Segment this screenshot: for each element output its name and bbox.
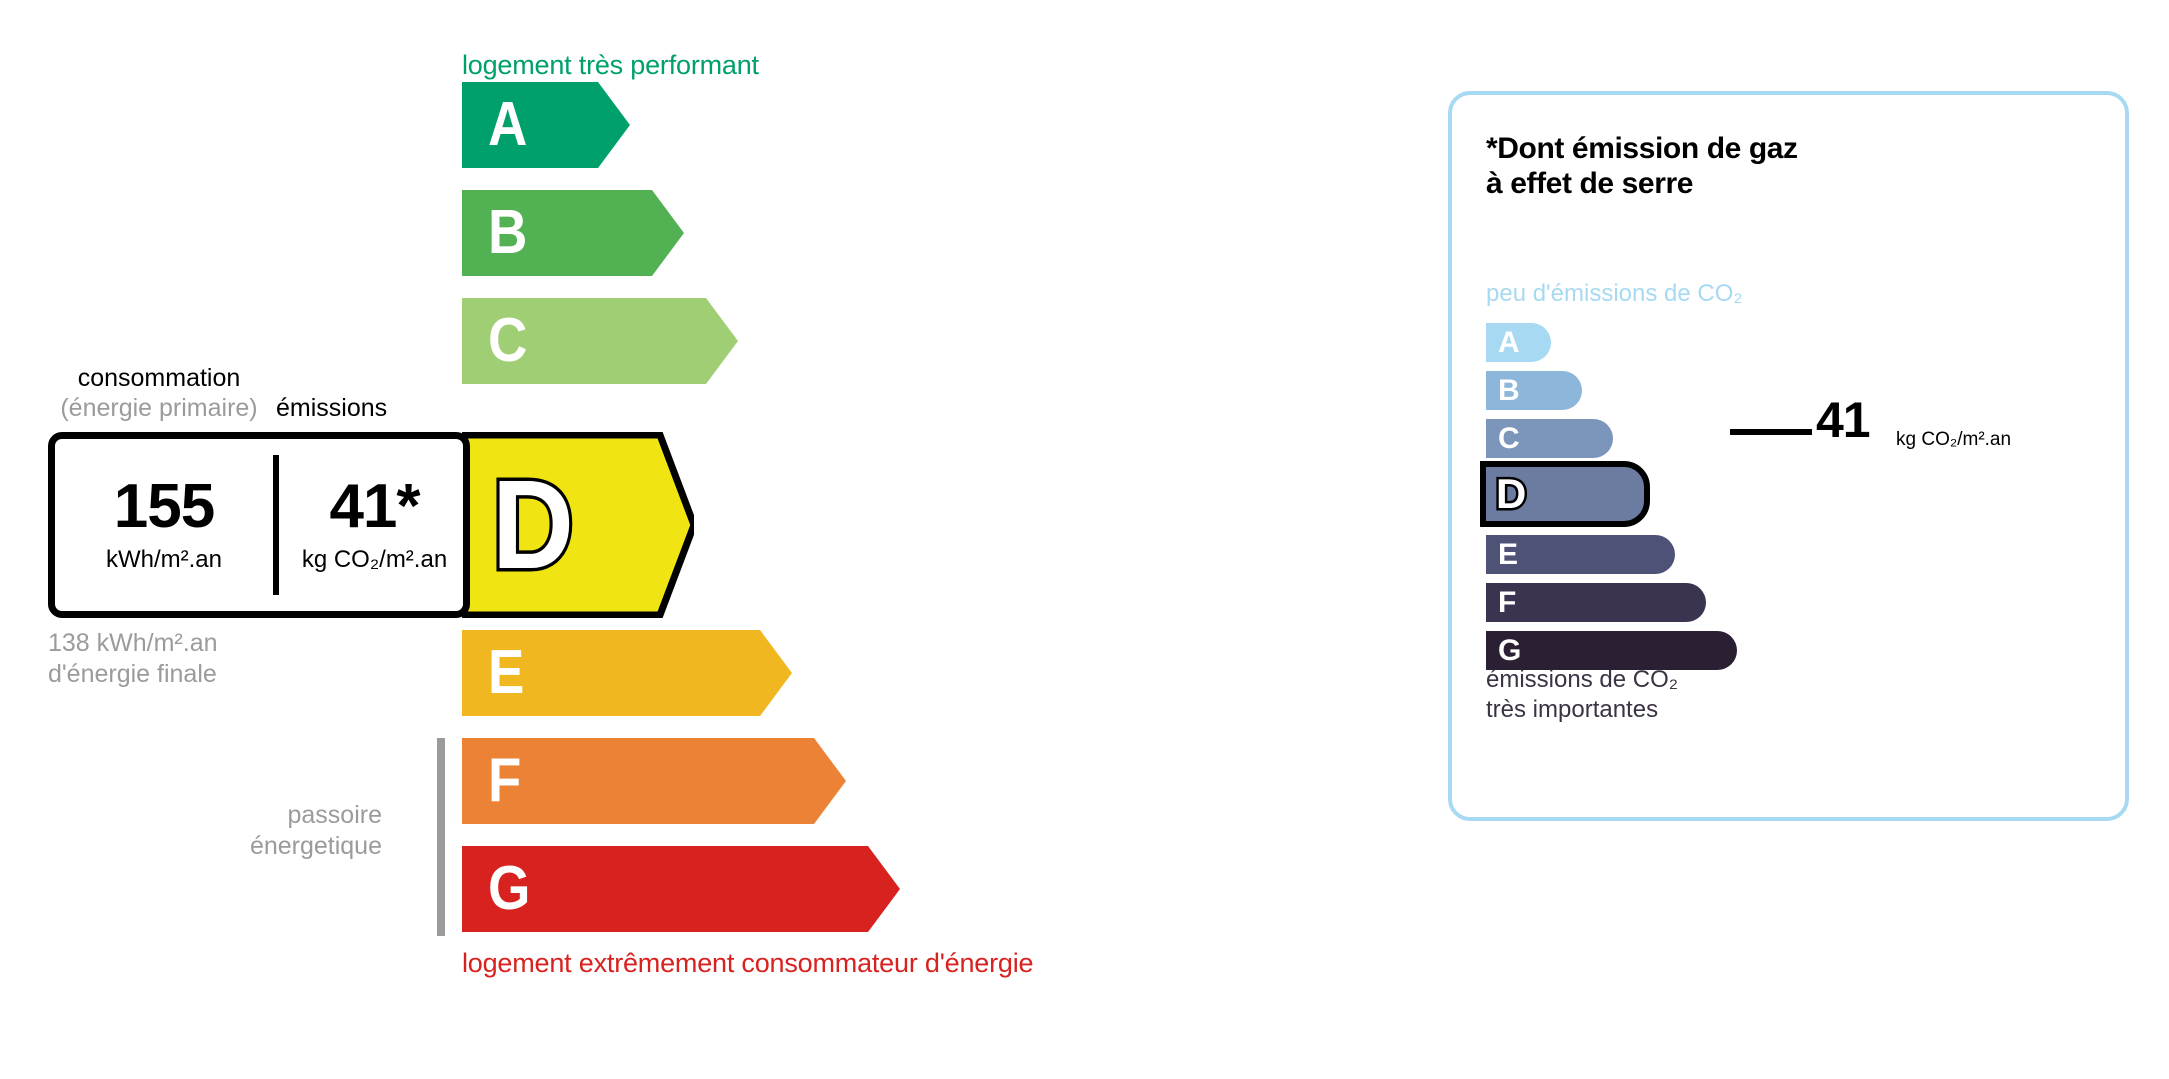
co2-letter-g: G (1498, 636, 1521, 666)
emissions-unit: kg CO₂/m².an (302, 546, 447, 574)
final-energy-text: d'énergie finale (48, 659, 218, 690)
co2-letter-a: A (1498, 328, 1520, 358)
co2-bar-b: B (1486, 371, 1582, 410)
co2-bar-e: E (1486, 535, 1675, 574)
consumption-label: consommation (48, 364, 270, 393)
consumption-sublabel: (énergie primaire) (38, 394, 280, 423)
co2-letter-e: E (1498, 540, 1518, 570)
emissions-value: 41* (329, 476, 419, 538)
energy-bar-g: G (462, 846, 900, 932)
energy-letter-a: A (488, 94, 527, 156)
energy-letter-e: E (488, 642, 524, 704)
co2-bar-d-highlighted: D (1480, 461, 1650, 527)
co2-bar-c: C (1486, 419, 1613, 458)
emissions-label: émissions (276, 394, 387, 423)
energy-bar-b: B (462, 190, 684, 276)
consumption-value: 155 (114, 476, 214, 538)
co2-letter-b: B (1498, 376, 1520, 406)
energy-bar-e: E (462, 630, 792, 716)
co2-callout-leader-line (1730, 429, 1812, 435)
co2-bar-f: F (1486, 583, 1706, 622)
co2-top-caption: peu d'émissions de CO₂ (1486, 280, 1743, 308)
co2-callout-unit: kg CO₂/m².an (1896, 429, 2011, 451)
energy-bottom-caption: logement extrêmement consommateur d'éner… (462, 948, 1033, 979)
energy-letter-c: C (488, 310, 527, 372)
co2-letter-c: C (1498, 424, 1520, 454)
co2-bottom-line-1: émissions de CO₂ (1486, 665, 1678, 695)
energy-top-caption: logement très performant (462, 50, 759, 81)
passoire-energetique-bracket (437, 738, 445, 936)
co2-title-line-1: *Dont émission de gaz (1486, 131, 1798, 166)
co2-letter-f: F (1498, 588, 1516, 618)
co2-callout-value: 41 (1816, 395, 1870, 445)
final-energy-note: 138 kWh/m².an d'énergie finale (48, 628, 218, 690)
final-energy-value: 138 kWh/m².an (48, 628, 218, 659)
energy-performance-chart: logement très performant A B C D E (0, 0, 1400, 1079)
co2-title-line-2: à effet de serre (1486, 166, 1798, 201)
co2-panel-title: *Dont émission de gaz à effet de serre (1486, 131, 1798, 201)
energy-letter-g: G (488, 858, 530, 920)
energy-letter-d: D (492, 462, 574, 588)
consumption-value-box: 155 kWh/m².an 41* kg CO₂/m².an (48, 432, 470, 618)
co2-letter-d: D (1496, 473, 1526, 515)
passoire-line-1: passoire (140, 800, 382, 831)
co2-bottom-caption: émissions de CO₂ très importantes (1486, 665, 1678, 725)
passoire-energetique-label: passoire énergetique (140, 800, 382, 862)
passoire-line-2: énergetique (140, 831, 382, 862)
co2-bar-a: A (1486, 323, 1551, 362)
energy-letter-b: B (488, 202, 527, 264)
energy-bar-d-highlighted: D (462, 432, 694, 618)
energy-bar-a: A (462, 82, 630, 168)
emissions-cell: 41* kg CO₂/m².an (279, 439, 470, 611)
co2-bottom-line-2: très importantes (1486, 695, 1678, 725)
consumption-unit: kWh/m².an (106, 546, 222, 574)
co2-emissions-panel: *Dont émission de gaz à effet de serre p… (1448, 91, 2129, 821)
energy-bar-c: C (462, 298, 738, 384)
energy-bar-f: F (462, 738, 846, 824)
consumption-cell: 155 kWh/m².an (55, 439, 273, 611)
energy-letter-f: F (488, 750, 521, 812)
